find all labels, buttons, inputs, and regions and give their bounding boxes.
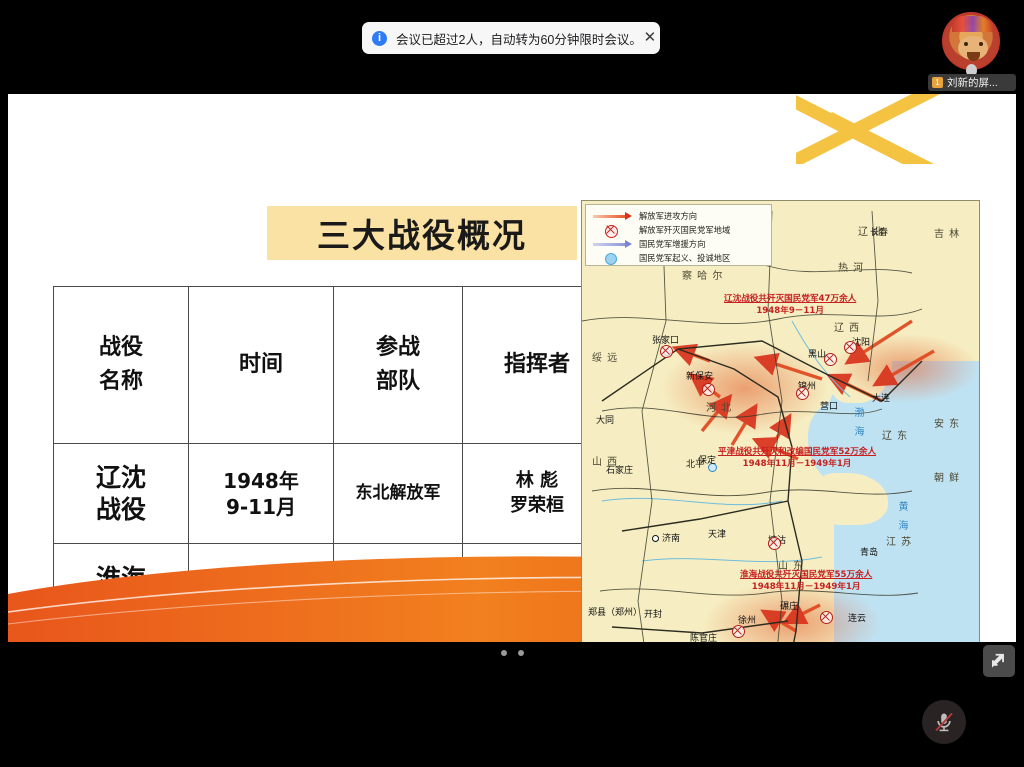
city-label: 石家庄 bbox=[606, 463, 633, 476]
close-icon[interactable]: ✕ bbox=[642, 30, 658, 46]
city-label: 陈官庄 bbox=[690, 631, 717, 642]
city-dot bbox=[652, 535, 659, 542]
annotation-huaihai: 淮海战役共歼灭国民党军55万余人 1948年11月－1949年1月 bbox=[740, 569, 872, 594]
city-label: 营口 bbox=[820, 399, 838, 412]
province-label: 辽 西 bbox=[834, 319, 860, 334]
city-label: 徐州 bbox=[738, 613, 756, 626]
cell-battle-name: 辽沈 战役 bbox=[54, 444, 189, 544]
battle-marker bbox=[732, 625, 745, 638]
cell-troops: 中原野战 军 华东野 战军 bbox=[334, 544, 463, 643]
shared-slide[interactable]: 三大战役概况 战役 名称 时间 参战 部队 指挥者 bbox=[8, 94, 1016, 642]
avatar-eye-right bbox=[979, 42, 983, 46]
province-label: 安 东 bbox=[934, 415, 960, 430]
col-header-name: 战役 名称 bbox=[54, 287, 189, 444]
city-label: 大同 bbox=[596, 413, 614, 426]
city-label: 天津 bbox=[708, 527, 726, 540]
city-label: 郑县（郑州） bbox=[588, 605, 642, 618]
cell-battle-name: 淮海 战役 bbox=[54, 544, 189, 643]
battle-marker bbox=[824, 353, 837, 366]
city-label: 青岛 bbox=[860, 545, 878, 558]
city-label: 连云 bbox=[848, 611, 866, 624]
red-arrow-icon bbox=[591, 210, 635, 223]
mic-glyph bbox=[932, 710, 956, 734]
legend-item: 国民党军起义、投诚地区 bbox=[591, 251, 766, 265]
battle-marker bbox=[844, 341, 857, 354]
battle-marker bbox=[702, 383, 715, 396]
city-label: 大连 bbox=[872, 391, 890, 404]
legend-item: 解放军进攻方向 bbox=[591, 209, 766, 223]
page-title: 三大战役概况 bbox=[267, 206, 577, 260]
province-label: 朝 鲜 bbox=[934, 469, 960, 484]
battle-marker bbox=[660, 345, 673, 358]
city-label: 长春 bbox=[870, 225, 888, 238]
avatar bbox=[942, 12, 1000, 70]
province-label: 江 苏 bbox=[886, 533, 912, 548]
legend-label: 解放军歼灭国民党军地域 bbox=[639, 224, 730, 236]
sea-label: 黄 海 bbox=[894, 501, 909, 533]
expand-glyph bbox=[991, 653, 1008, 670]
gold-chevron-decoration bbox=[796, 94, 1016, 164]
mic-muted-icon[interactable] bbox=[922, 700, 966, 744]
blue-arrow-icon bbox=[591, 238, 635, 251]
cell-time: 1948.11-1 949.1 bbox=[189, 544, 334, 643]
cell-time: 1948年 9-11月 bbox=[189, 444, 334, 544]
participant-name-chip: 1 刘新的屏... bbox=[928, 74, 1016, 91]
red-cross-circle-icon bbox=[591, 224, 635, 237]
table-row: 淮海 战役 1948.11-1 949.1 中原野战 军 华东野 战军 刘伯承、… bbox=[54, 544, 612, 643]
province-label: 热 河 bbox=[838, 259, 864, 274]
pagination-dot[interactable] bbox=[501, 650, 507, 656]
legend-label: 国民党军起义、投诚地区 bbox=[639, 252, 730, 264]
province-label: 山 东 bbox=[778, 557, 804, 572]
province-label: 察 哈 尔 bbox=[682, 267, 723, 282]
campaign-map[interactable]: 解放军进攻方向 解放军歼灭国民党军地域 国民党军增援方向 国民党军起义、投诚地区… bbox=[581, 200, 980, 642]
participant-thumbnail[interactable]: 1 刘新的屏... bbox=[928, 12, 1016, 92]
participant-name-label: 刘新的屏... bbox=[947, 75, 998, 90]
sea-label: 渤 海 bbox=[850, 407, 865, 439]
toast-message: 会议已超过2人，自动转为60分钟限时会议。 bbox=[396, 29, 642, 48]
avatar-hat bbox=[952, 16, 994, 32]
battles-table: 战役 名称 时间 参战 部队 指挥者 辽沈 战役 bbox=[53, 286, 612, 642]
province-label: 绥 远 bbox=[592, 349, 618, 364]
col-header-time: 时间 bbox=[189, 287, 334, 444]
annotation-pingjin: 平津战役共歼灭和改编国民党军52万余人 1948年11月－1949年1月 bbox=[718, 446, 876, 471]
legend-label: 解放军进攻方向 bbox=[639, 210, 697, 222]
province-label: 辽 东 bbox=[882, 427, 908, 442]
city-label: 碾庄 bbox=[780, 599, 798, 612]
blue-dot-icon bbox=[591, 252, 635, 265]
battle-marker bbox=[820, 611, 833, 624]
col-header-troops: 参战 部队 bbox=[334, 287, 463, 444]
pagination-dot[interactable] bbox=[518, 650, 524, 656]
battle-marker bbox=[768, 537, 781, 550]
city-label: 济南 bbox=[662, 531, 680, 544]
city-label: 保定 bbox=[698, 453, 716, 466]
avatar-mouth bbox=[967, 52, 980, 61]
city-label: 新保安 bbox=[686, 369, 713, 382]
presenter-count-badge: 1 bbox=[932, 77, 943, 88]
battle-marker bbox=[796, 387, 809, 400]
legend-item: 国民党军增援方向 bbox=[591, 237, 766, 251]
city-label: 开封 bbox=[644, 607, 662, 620]
legend-label: 国民党军增援方向 bbox=[639, 238, 705, 250]
expand-icon[interactable] bbox=[983, 645, 1015, 677]
table-row: 辽沈 战役 1948年 9-11月 东北解放军 林 彪 罗荣桓 bbox=[54, 444, 612, 544]
province-label: 河 北 bbox=[706, 399, 732, 414]
meeting-limit-toast: i 会议已超过2人，自动转为60分钟限时会议。 ✕ bbox=[362, 22, 660, 54]
table-header-row: 战役 名称 时间 参战 部队 指挥者 bbox=[54, 287, 612, 444]
info-icon: i bbox=[372, 31, 387, 46]
map-legend: 解放军进攻方向 解放军歼灭国民党军地域 国民党军增援方向 国民党军起义、投诚地区 bbox=[585, 204, 772, 266]
annotation-liaoshen: 辽沈战役共歼灭国民党军47万余人 1948年9－11月 bbox=[724, 293, 856, 318]
legend-item: 解放军歼灭国民党军地域 bbox=[591, 223, 766, 237]
cell-troops: 东北解放军 bbox=[334, 444, 463, 544]
pagination-dots[interactable] bbox=[0, 650, 1024, 656]
avatar-eye-left bbox=[964, 42, 968, 46]
province-label: 吉 林 bbox=[934, 225, 960, 240]
meeting-screen-share-view: i 会议已超过2人，自动转为60分钟限时会议。 ✕ 1 刘新的屏... 三大战役… bbox=[0, 0, 1024, 767]
